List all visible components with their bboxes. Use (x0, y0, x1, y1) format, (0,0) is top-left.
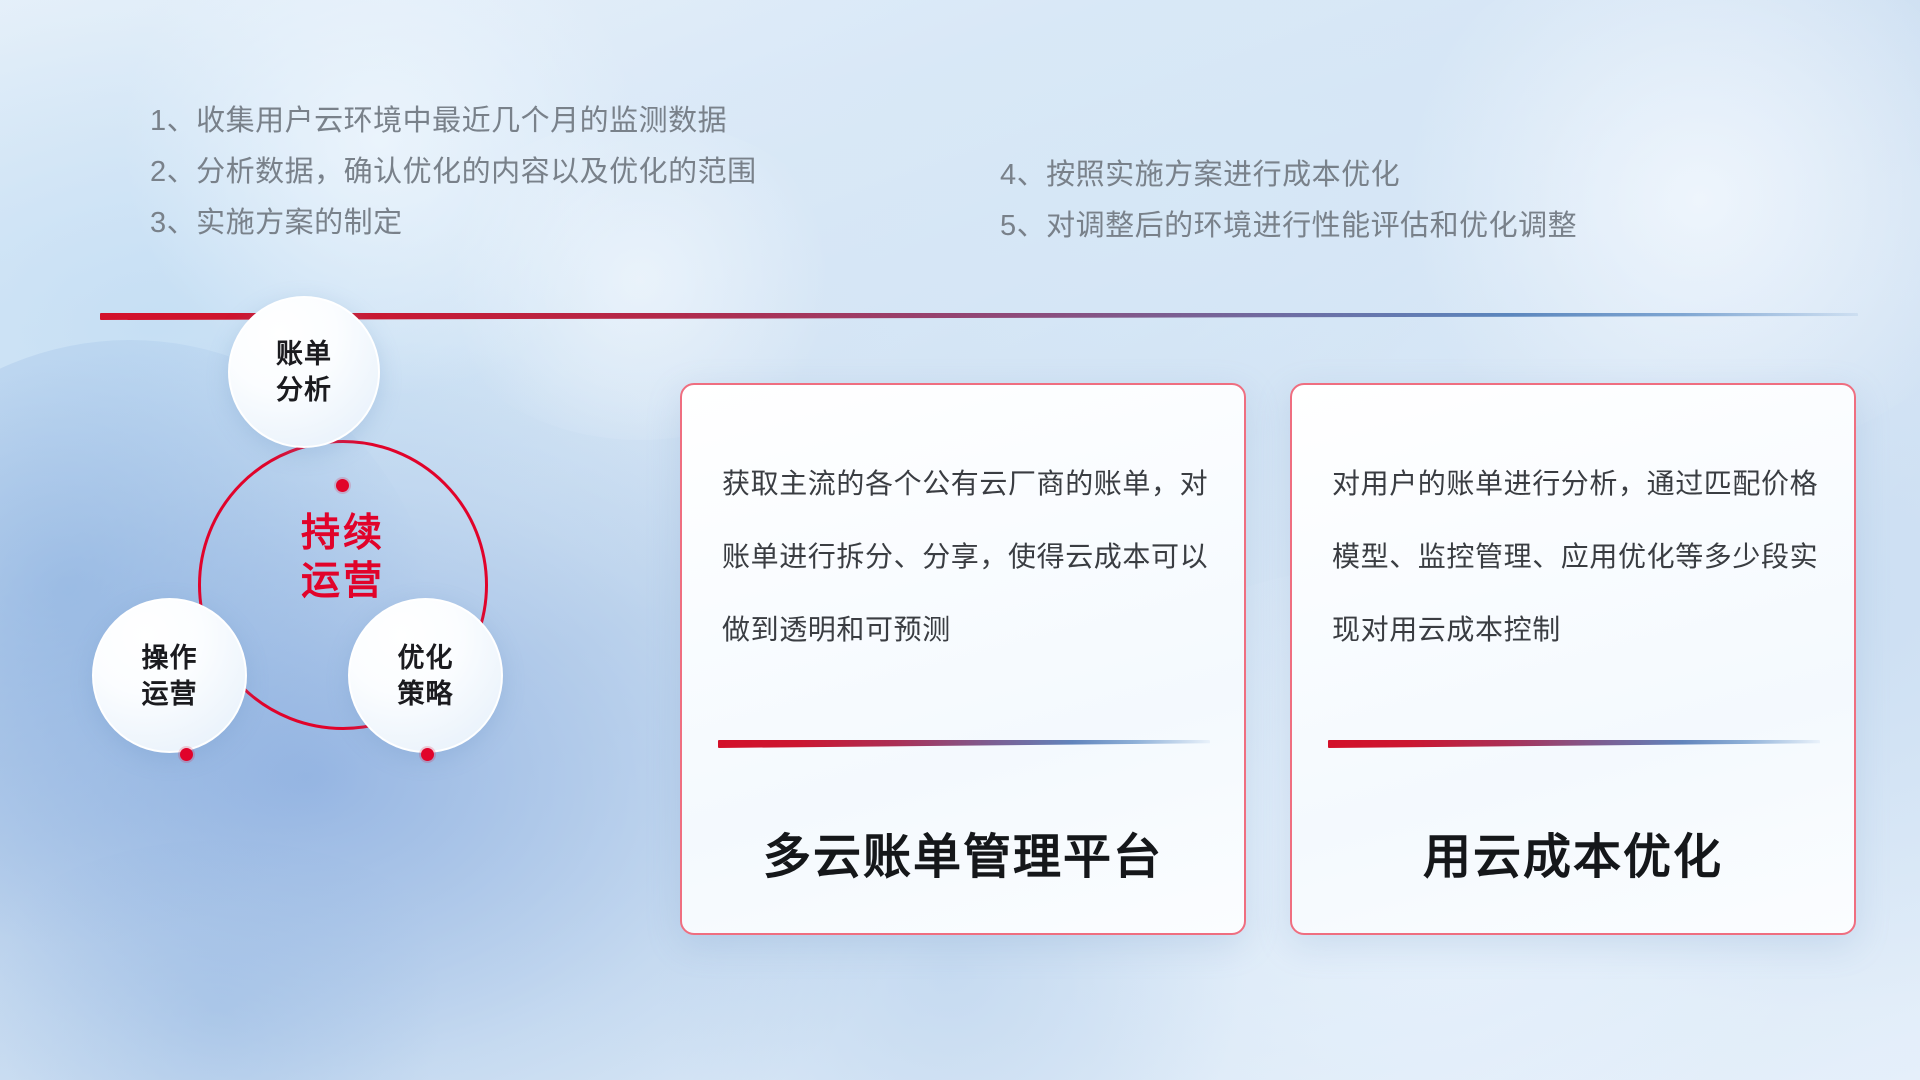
card-2-body: 对用户的账单进行分析，通过匹配价格模型、监控管理、应用优化等多少段实现对用云成本… (1332, 447, 1820, 666)
step-item-1: 1、收集用户云环境中最近几个月的监测数据 (150, 96, 850, 147)
step-item-3: 3、实施方案的制定 (150, 198, 850, 249)
venn-center-label: 持续 运营 (198, 510, 488, 606)
card-2-divider (1328, 740, 1820, 748)
card-cloud-cost-optimization[interactable]: 对用户的账单进行分析，通过匹配价格模型、监控管理、应用优化等多少段实现对用云成本… (1290, 383, 1856, 935)
venn-node-operations-line-2: 运营 (142, 676, 198, 712)
steps-list-right: 4、按照实施方案进行成本优化 5、对调整后的环境进行性能评估和优化调整 (1000, 150, 1740, 252)
venn-connector-dot-left (180, 748, 193, 761)
steps-list-left: 1、收集用户云环境中最近几个月的监测数据 2、分析数据，确认优化的内容以及优化的… (150, 96, 850, 249)
venn-node-bill-analysis-line-1: 账单 (276, 336, 332, 372)
card-multicloud-billing-platform[interactable]: 获取主流的各个公有云厂商的账单，对账单进行拆分、分享，使得云成本可以做到透明和可… (680, 383, 1246, 935)
venn-node-bill-analysis-line-2: 分析 (276, 372, 332, 408)
step-item-5: 5、对调整后的环境进行性能评估和优化调整 (1000, 201, 1740, 252)
venn-node-optimization-strategy-line-1: 优化 (398, 640, 454, 676)
card-1-body: 获取主流的各个公有云厂商的账单，对账单进行拆分、分享，使得云成本可以做到透明和可… (722, 447, 1210, 666)
venn-node-operations-line-1: 操作 (142, 640, 198, 676)
step-item-4: 4、按照实施方案进行成本优化 (1000, 150, 1740, 201)
venn-center-line-2: 运营 (198, 558, 488, 606)
section-divider (100, 313, 1858, 320)
venn-connector-dot-right (421, 748, 434, 761)
venn-center-line-1: 持续 (198, 510, 488, 558)
background-blob-6 (0, 840, 480, 1080)
venn-node-optimization-strategy[interactable]: 优化 策略 (348, 598, 503, 753)
card-1-title: 多云账单管理平台 (682, 817, 1244, 887)
step-item-2: 2、分析数据，确认优化的内容以及优化的范围 (150, 147, 850, 198)
venn-node-operations[interactable]: 操作 运营 (92, 598, 247, 753)
card-1-divider (718, 740, 1210, 748)
slide-canvas: 1、收集用户云环境中最近几个月的监测数据 2、分析数据，确认优化的内容以及优化的… (0, 0, 1920, 1080)
card-2-title: 用云成本优化 (1292, 817, 1854, 887)
venn-connector-dot-top (336, 479, 349, 492)
venn-diagram: 持续 运营 账单 分析 操作 运营 优化 策略 (80, 330, 600, 810)
venn-node-bill-analysis[interactable]: 账单 分析 (228, 296, 380, 448)
venn-node-optimization-strategy-line-2: 策略 (398, 676, 454, 712)
